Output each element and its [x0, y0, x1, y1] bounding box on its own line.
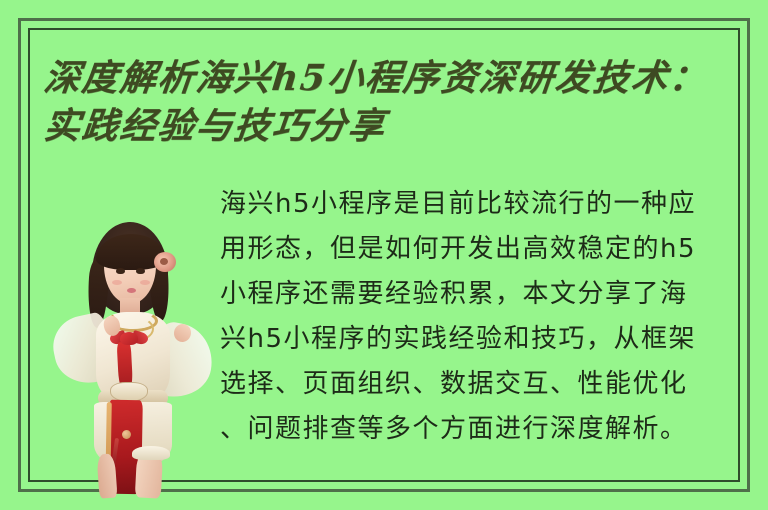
title-line-2: 实践经验与技巧分享	[41, 102, 736, 150]
title-line-1: 深度解析海兴h5小程序资深研发技术：	[41, 54, 736, 102]
body-line-2: 用形态，但是如何开发出高效稳定的h5	[220, 227, 736, 272]
body-line-1: 海兴h5小程序是目前比较流行的一种应	[220, 182, 736, 227]
red-bow-knot	[120, 332, 138, 345]
tassel-bead	[122, 430, 131, 439]
poster-canvas: 深度解析海兴h5小程序资深研发技术： 实践经验与技巧分享	[0, 0, 768, 510]
body-line-6: 、问题排查等多个方面进行深度解析。	[220, 407, 736, 452]
body-line-5: 选择、页面组织、数据交互、性能优化	[220, 362, 736, 407]
flower-hairpin-core	[160, 258, 168, 265]
page-title: 深度解析海兴h5小程序资深研发技术： 实践经验与技巧分享	[44, 54, 734, 150]
body-paragraph: 海兴h5小程序是目前比较流行的一种应 用形态，但是如何开发出高效稳定的h5 小程…	[220, 182, 736, 452]
body-line-3: 小程序还需要经验积累，本文分享了海	[220, 272, 736, 317]
left-blush	[112, 280, 122, 285]
skirt-hem-fold	[132, 446, 170, 460]
right-eye	[136, 268, 145, 274]
right-blush	[140, 280, 150, 285]
character-illustration	[46, 212, 214, 494]
left-eye	[116, 268, 125, 274]
lips	[127, 288, 136, 293]
body-line-4: 兴h5小程序的实践经验和技巧，从框架	[220, 317, 736, 362]
